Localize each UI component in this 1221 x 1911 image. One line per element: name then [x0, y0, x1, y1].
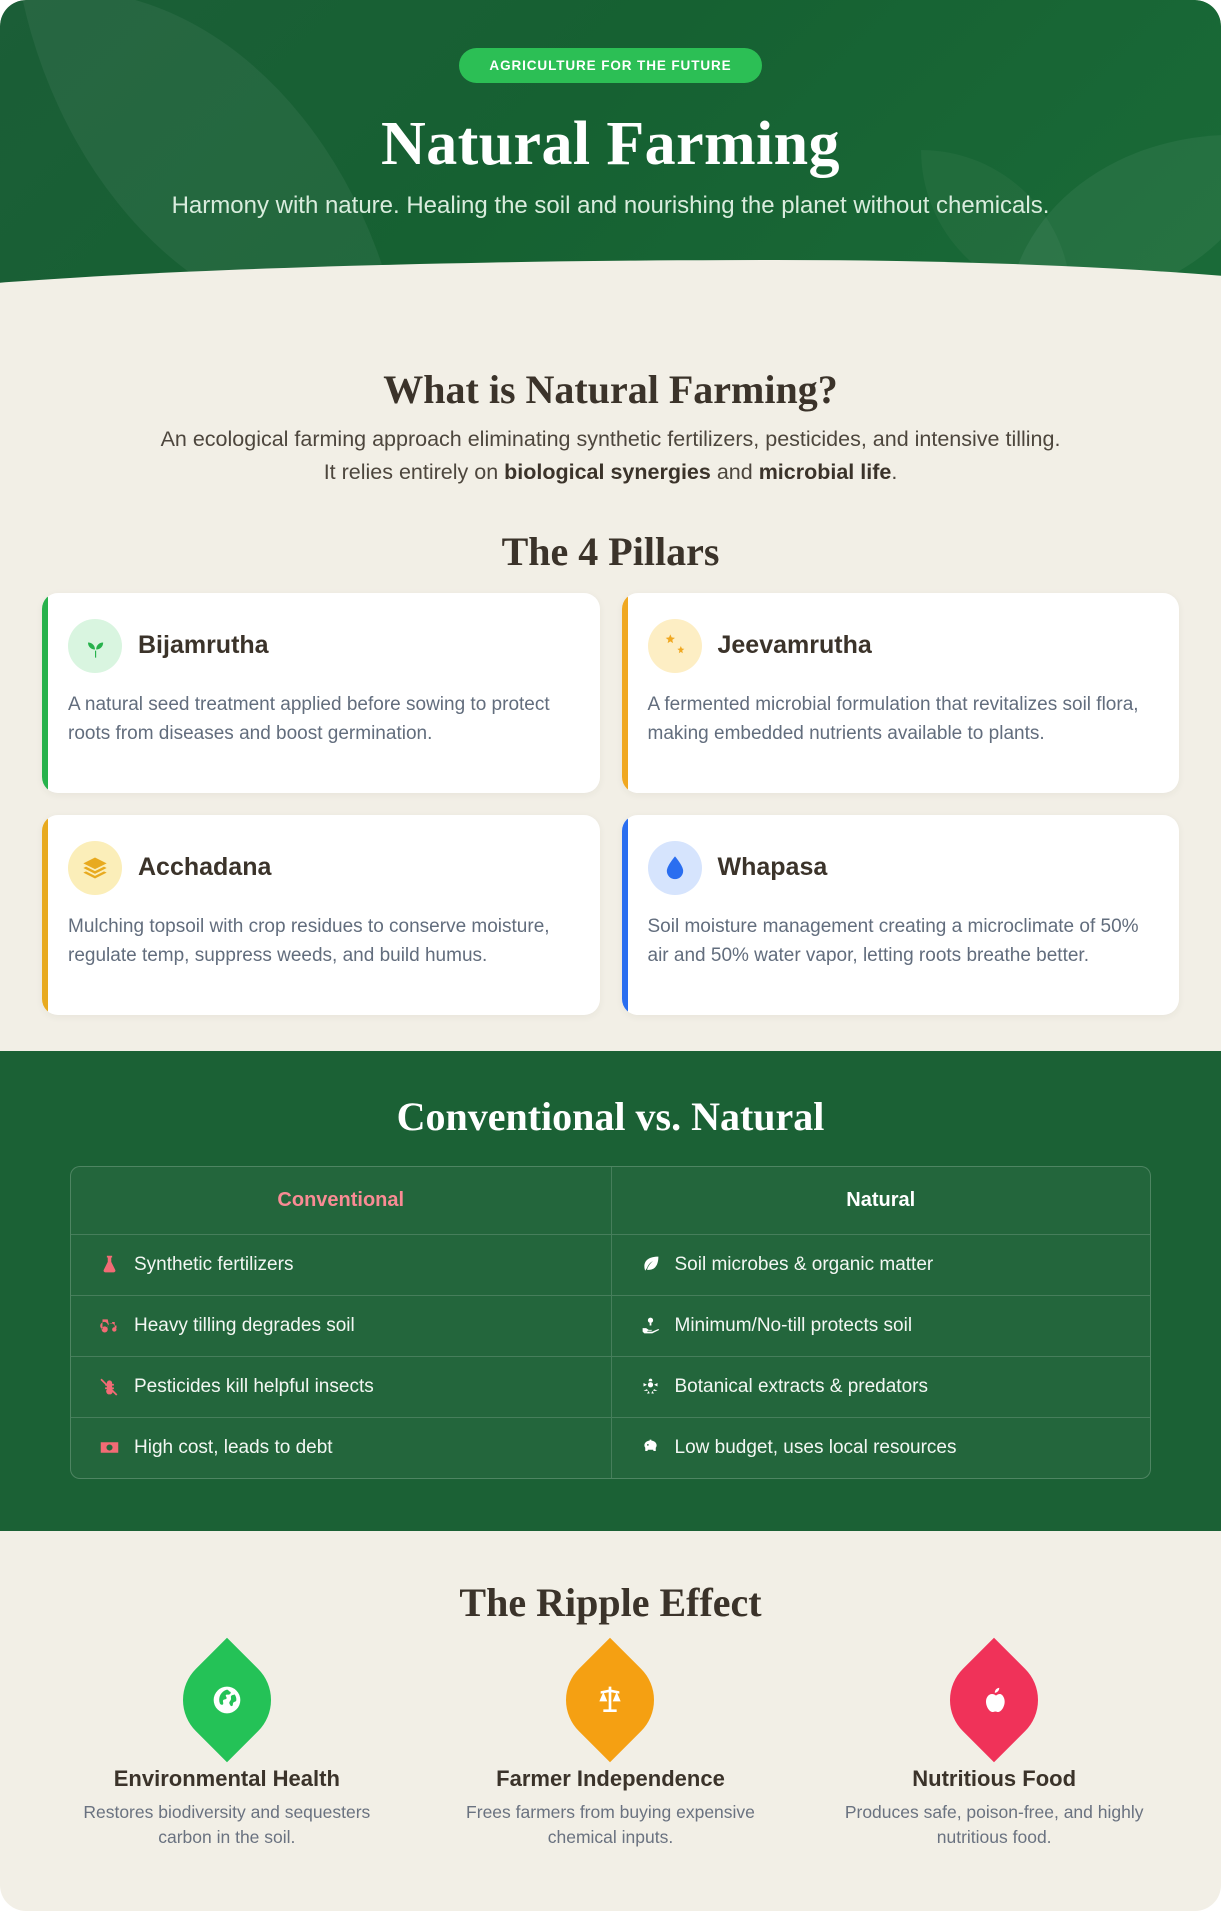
- ripple-description: Produces safe, poison-free, and highly n…: [825, 1800, 1163, 1851]
- what-is-line2-mid: and: [711, 460, 759, 484]
- ripple-effect-section: The Ripple Effect Environmental Health R…: [0, 1531, 1221, 1911]
- hero-section: AGRICULTURE FOR THE FUTURE Natural Farmi…: [0, 0, 1221, 318]
- ripple-item-nutritious-food: Nutritious Food Produces safe, poison-fr…: [807, 1656, 1181, 1851]
- what-is-bold-1: biological synergies: [504, 460, 711, 484]
- ripple-title: Environmental Health: [58, 1766, 396, 1792]
- ripple-title: Nutritious Food: [825, 1766, 1163, 1792]
- pillar-description: A fermented microbial formulation that r…: [648, 691, 1152, 749]
- column-header-natural: Natural: [611, 1167, 1151, 1234]
- pillar-card-jeevamrutha[interactable]: Jeevamrutha A fermented microbial formul…: [622, 593, 1180, 793]
- ripple-item-environmental-health: Environmental Health Restores biodiversi…: [40, 1656, 414, 1851]
- what-is-bold-2: microbial life: [759, 460, 892, 484]
- table-row: High cost, leads to debt Low budget, use…: [71, 1417, 1150, 1478]
- layers-icon: [68, 841, 122, 895]
- globe-icon: [211, 1684, 243, 1716]
- table-row: Heavy tilling degrades soil Minimum/No-t…: [71, 1295, 1150, 1356]
- what-is-body: An ecological farming approach eliminati…: [71, 423, 1151, 488]
- pillar-card-acchadana[interactable]: Acchadana Mulching topsoil with crop res…: [42, 815, 600, 1015]
- ripple-shape: [932, 1638, 1056, 1762]
- table-row: Pesticides kill helpful insects Botanica…: [71, 1356, 1150, 1417]
- hero-subtitle: Harmony with nature. Healing the soil an…: [151, 190, 1071, 222]
- what-is-line2-pre: It relies entirely on: [324, 460, 504, 484]
- table-cell-natural: Botanical extracts & predators: [611, 1357, 1151, 1417]
- microbe-icon: [648, 619, 702, 673]
- pillars-heading-wrap: The 4 Pillars: [0, 494, 1221, 593]
- tractor-icon: [99, 1315, 120, 1336]
- pillar-card-header: Whapasa: [648, 841, 1152, 895]
- pillars-grid: Bijamrutha A natural seed treatment appl…: [0, 593, 1221, 1051]
- ripple-description: Restores biodiversity and sequesters car…: [58, 1800, 396, 1851]
- leaf-icon: [640, 1254, 661, 1275]
- comparison-table: Conventional Natural Synthetic fertilize…: [70, 1166, 1151, 1479]
- hand-holding-seedling-icon: [640, 1315, 661, 1336]
- ripple-item-farmer-independence: Farmer Independence Frees farmers from b…: [424, 1656, 798, 1851]
- cell-label: Synthetic fertilizers: [134, 1254, 293, 1276]
- cell-label: Minimum/No-till protects soil: [675, 1315, 913, 1337]
- cell-label: Heavy tilling degrades soil: [134, 1315, 355, 1337]
- pillar-title: Acchadana: [138, 853, 271, 882]
- table-cell-conventional: Synthetic fertilizers: [71, 1235, 611, 1295]
- cell-label: Pesticides kill helpful insects: [134, 1376, 374, 1398]
- money-bill-icon: [99, 1437, 120, 1458]
- ripple-shape: [548, 1638, 672, 1762]
- seedling-icon: [68, 619, 122, 673]
- ripple-shape: [165, 1638, 289, 1762]
- comparison-heading: Conventional vs. Natural: [70, 1093, 1151, 1140]
- table-cell-natural: Soil microbes & organic matter: [611, 1235, 1151, 1295]
- pillar-title: Bijamrutha: [138, 631, 269, 660]
- pillar-title: Jeevamrutha: [718, 631, 872, 660]
- cell-label: Botanical extracts & predators: [675, 1376, 928, 1398]
- page-title: Natural Farming: [40, 109, 1181, 180]
- pillar-description: A natural seed treatment applied before …: [68, 691, 572, 749]
- table-cell-natural: Minimum/No-till protects soil: [611, 1296, 1151, 1356]
- pillars-section: The 4 Pillars Bijamrutha A natural seed …: [0, 494, 1221, 1051]
- pillar-card-header: Bijamrutha: [68, 619, 572, 673]
- comparison-section: Conventional vs. Natural Conventional Na…: [0, 1051, 1221, 1531]
- no-bug-icon: [99, 1376, 120, 1397]
- pillar-title: Whapasa: [718, 853, 828, 882]
- infographic-page: AGRICULTURE FOR THE FUTURE Natural Farmi…: [0, 0, 1221, 1911]
- pillar-description: Mulching topsoil with crop residues to c…: [68, 913, 572, 971]
- column-header-conventional: Conventional: [71, 1167, 611, 1234]
- piggy-bank-icon: [640, 1437, 661, 1458]
- table-row: Synthetic fertilizers Soil microbes & or…: [71, 1234, 1150, 1295]
- apple-icon: [978, 1684, 1010, 1716]
- ripple-description: Frees farmers from buying expensive chem…: [442, 1800, 780, 1851]
- water-drop-icon: [648, 841, 702, 895]
- cell-label: Soil microbes & organic matter: [675, 1254, 934, 1276]
- cell-label: High cost, leads to debt: [134, 1437, 333, 1459]
- pillar-card-whapasa[interactable]: Whapasa Soil moisture management creatin…: [622, 815, 1180, 1015]
- what-is-line2-post: .: [891, 460, 897, 484]
- pillar-card-bijamrutha[interactable]: Bijamrutha A natural seed treatment appl…: [42, 593, 600, 793]
- cell-label: Low budget, uses local resources: [675, 1437, 957, 1459]
- pillar-description: Soil moisture management creating a micr…: [648, 913, 1152, 971]
- table-header-row: Conventional Natural: [71, 1167, 1150, 1234]
- spider-icon: [640, 1376, 661, 1397]
- hero-wave-divider: [0, 260, 1221, 318]
- hero-badge: AGRICULTURE FOR THE FUTURE: [459, 48, 761, 83]
- table-cell-natural: Low budget, uses local resources: [611, 1418, 1151, 1478]
- ripple-heading: The Ripple Effect: [40, 1579, 1181, 1626]
- scales-icon: [594, 1684, 626, 1716]
- what-is-section: What is Natural Farming? An ecological f…: [0, 318, 1221, 494]
- pillars-heading: The 4 Pillars: [0, 528, 1221, 575]
- ripple-grid: Environmental Health Restores biodiversi…: [40, 1656, 1181, 1851]
- table-cell-conventional: High cost, leads to debt: [71, 1418, 611, 1478]
- what-is-line1: An ecological farming approach eliminati…: [161, 427, 1061, 451]
- pillar-card-header: Acchadana: [68, 841, 572, 895]
- flask-icon: [99, 1254, 120, 1275]
- table-cell-conventional: Heavy tilling degrades soil: [71, 1296, 611, 1356]
- ripple-title: Farmer Independence: [442, 1766, 780, 1792]
- pillar-card-header: Jeevamrutha: [648, 619, 1152, 673]
- what-is-heading: What is Natural Farming?: [70, 366, 1151, 413]
- table-cell-conventional: Pesticides kill helpful insects: [71, 1357, 611, 1417]
